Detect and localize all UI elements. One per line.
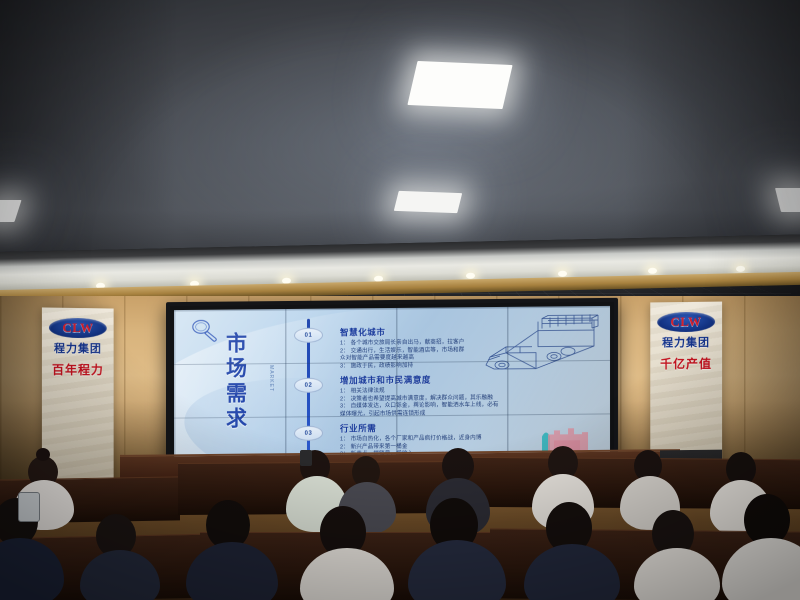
slide-item-03-heading: 行业所需: [340, 421, 482, 434]
smartphone: [18, 492, 40, 522]
brand-sign-right-company: 程力集团: [650, 334, 722, 350]
brand-sign-right-slogan: 千亿产值: [650, 355, 722, 372]
clw-logo-text: CLW: [670, 314, 701, 330]
downlight: [736, 266, 745, 272]
slide-title-english: MARKET: [268, 365, 274, 392]
brand-sign-left-company: 程力集团: [42, 340, 114, 357]
conference-room-photo: CLW 程力集团 百年程力 CLW 程力集团 千亿产值 市场需求 MARKET: [0, 0, 800, 600]
ceiling-light-panel: [394, 191, 462, 213]
brand-sign-left-slogan: 百年程力: [42, 361, 114, 378]
video-wall-screen[interactable]: 市场需求 MARKET 01 02 03 智慧化城市 1： 各个城市交旅局长亲自…: [174, 306, 610, 462]
slide-title: 市场需求: [226, 331, 262, 431]
audience-area: [0, 440, 800, 600]
slide-item-02-heading: 增加城市和市民满意度: [340, 373, 499, 387]
magnifier-icon: [190, 318, 220, 344]
ceiling-light-panel: [407, 61, 512, 109]
slide-item-02-line: 媒体曝光，引起市场供需连锁形成: [340, 410, 499, 419]
downlight: [466, 273, 475, 279]
clw-logo-icon: CLW: [49, 318, 107, 339]
clw-logo-icon: CLW: [657, 312, 715, 333]
hair-bun: [36, 448, 50, 461]
slide-item-01-heading: 智慧化城市: [340, 325, 464, 338]
slide-item-01-line: 3： 施政于民，政绩影响加持: [340, 362, 464, 371]
slide-item-02: 增加城市和市民满意度 1： 相关法律法规 2： 决策者也希望提高城市满意度，解决…: [340, 373, 499, 419]
downlight: [648, 268, 657, 274]
slide-item-01: 智慧化城市 1： 各个城市交旅局长亲自出马，献商招，拉客户 2： 交通出行，生活…: [340, 325, 464, 371]
smartphone: [300, 450, 312, 466]
wireframe-truck-icon: [476, 312, 602, 373]
downlight: [558, 271, 567, 277]
clw-logo-text: CLW: [62, 320, 93, 336]
